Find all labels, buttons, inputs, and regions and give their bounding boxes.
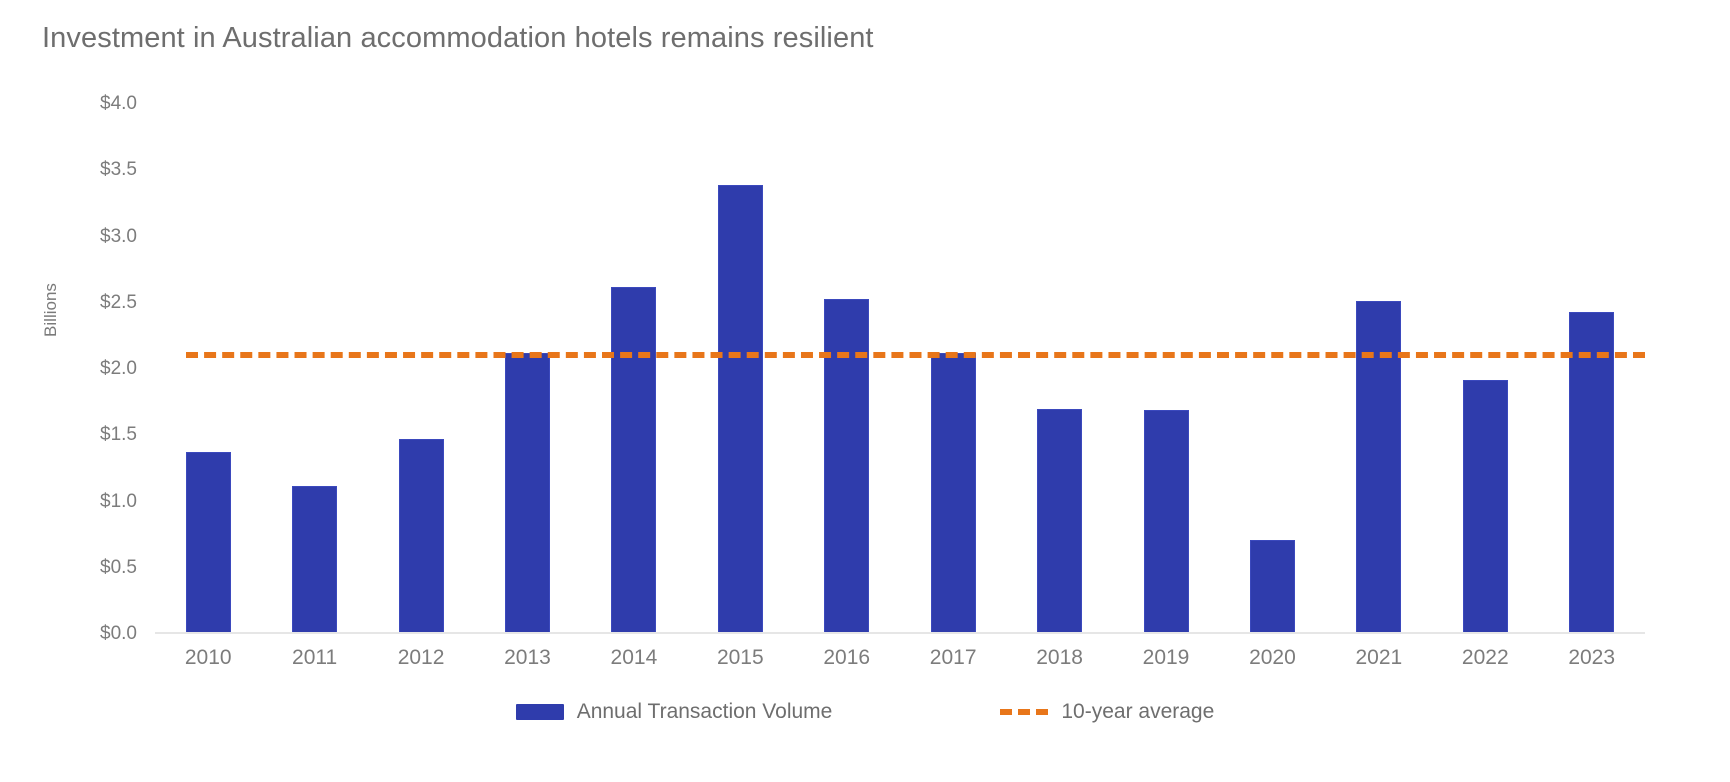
- y-axis-tick-label: $0.0: [100, 623, 137, 645]
- y-axis-tick-label: $3.5: [100, 159, 137, 181]
- bar-2011[interactable]: [292, 486, 337, 634]
- x-axis-tick-label: 2012: [368, 646, 474, 670]
- bar-2020[interactable]: [1250, 540, 1295, 634]
- x-axis-tick-label: 2020: [1219, 646, 1325, 670]
- y-axis-tick-label: $3.0: [100, 226, 137, 248]
- y-axis-tick-label: $1.0: [100, 491, 137, 513]
- x-axis-tick-label: 2019: [1113, 646, 1219, 670]
- bar-slot: [1219, 104, 1325, 634]
- bar-slot: [581, 104, 687, 634]
- bar-slot: [261, 104, 367, 634]
- bar-2013[interactable]: [505, 353, 550, 634]
- y-axis-tick-label: $2.0: [100, 358, 137, 380]
- y-axis-title: Billions: [41, 250, 61, 370]
- bar-slot: [155, 104, 261, 634]
- x-axis-tick-label: 2015: [687, 646, 793, 670]
- y-axis-tick-label: $0.5: [100, 557, 137, 579]
- bar-slot: [1432, 104, 1538, 634]
- legend-item-label: Annual Transaction Volume: [577, 700, 833, 724]
- ten-year-average-line: [186, 352, 1645, 358]
- legend-item-ten-year-average[interactable]: 10-year average: [1000, 700, 1214, 724]
- x-axis-tick-labels: 2010201120122013201420152016201720182019…: [155, 646, 1645, 670]
- bar-slot: [1326, 104, 1432, 634]
- legend-item-label: 10-year average: [1061, 700, 1214, 724]
- bar-2022[interactable]: [1463, 380, 1508, 634]
- x-axis-tick-label: 2011: [261, 646, 367, 670]
- bar-2010[interactable]: [186, 452, 231, 634]
- bar-slot: [1113, 104, 1219, 634]
- y-axis-tick-label: $4.0: [100, 93, 137, 115]
- chart-container: Investment in Australian accommodation h…: [0, 0, 1730, 782]
- x-axis-baseline: [155, 632, 1645, 634]
- bar-slot: [368, 104, 474, 634]
- bar-slot: [794, 104, 900, 634]
- bar-slot: [1538, 104, 1644, 634]
- legend-item-annual-transaction-volume[interactable]: Annual Transaction Volume: [516, 700, 833, 724]
- bar-2015[interactable]: [718, 185, 763, 634]
- bar-slot: [900, 104, 1006, 634]
- x-axis-tick-label: 2022: [1432, 646, 1538, 670]
- bar-2018[interactable]: [1037, 409, 1082, 634]
- bar-slot: [687, 104, 793, 634]
- x-axis-tick-label: 2010: [155, 646, 261, 670]
- bar-2019[interactable]: [1144, 410, 1189, 634]
- plot-area: $4.0$3.5$3.0$2.5$2.0$1.5$1.0$0.5$0.0: [155, 104, 1645, 634]
- legend-dashed-line-swatch-icon: [1000, 709, 1048, 715]
- x-axis-tick-label: 2014: [581, 646, 687, 670]
- bar-2016[interactable]: [824, 299, 869, 634]
- x-axis-tick-label: 2021: [1326, 646, 1432, 670]
- bar-slot: [1006, 104, 1112, 634]
- bar-2014[interactable]: [611, 287, 656, 634]
- bar-2023[interactable]: [1569, 312, 1614, 634]
- x-axis-tick-label: 2023: [1538, 646, 1644, 670]
- y-axis-tick-label: $1.5: [100, 424, 137, 446]
- chart-title: Investment in Australian accommodation h…: [42, 22, 874, 55]
- bar-2012[interactable]: [399, 439, 444, 634]
- bar-slot: [474, 104, 580, 634]
- chart-legend: Annual Transaction Volume10-year average: [0, 700, 1730, 724]
- x-axis-tick-label: 2013: [474, 646, 580, 670]
- x-axis-tick-label: 2016: [794, 646, 900, 670]
- y-axis-tick-label: $2.5: [100, 292, 137, 314]
- bar-2017[interactable]: [931, 353, 976, 634]
- x-axis-tick-label: 2017: [900, 646, 1006, 670]
- legend-bar-swatch-icon: [516, 704, 564, 720]
- bar-series: [155, 104, 1645, 634]
- x-axis-tick-label: 2018: [1006, 646, 1112, 670]
